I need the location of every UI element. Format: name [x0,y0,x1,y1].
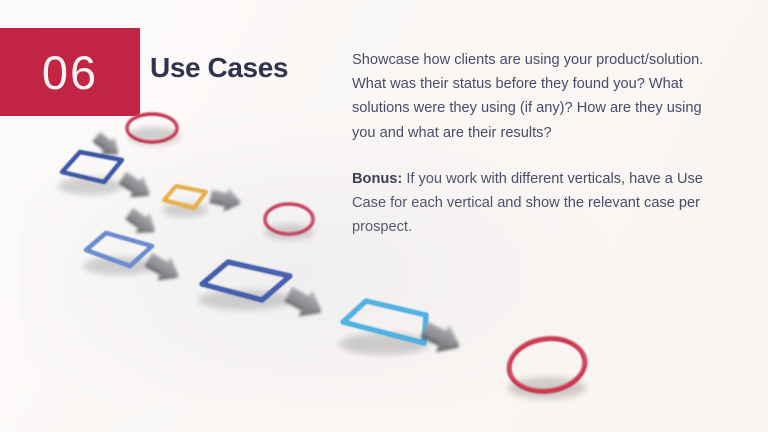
arrow-1 [90,128,125,162]
arrow-4 [122,204,161,241]
bonus-label: Bonus: [352,171,402,187]
body-copy: Showcase how clients are using your prod… [352,48,722,239]
bonus-text: If you work with different verticals, ha… [352,171,703,235]
node-mid-circle [265,202,313,234]
section-number-badge: 06 [0,28,140,116]
arrow-6 [281,281,327,324]
arrow-5 [142,248,185,288]
node-process-box-1 [62,152,122,182]
section-number: 06 [42,49,98,96]
node-end-circle [505,331,588,396]
node-process-box-2 [86,233,152,266]
page-title: Use Cases [150,52,288,84]
node-process-box-4 [343,301,426,343]
copy-paragraph-2: Bonus: If you work with different vertic… [352,167,722,240]
arrow-2 [116,167,156,205]
copy-paragraph-1: Showcase how clients are using your prod… [352,48,722,145]
node-decision-box [164,186,206,208]
arrow-7 [418,316,465,360]
arrow-3 [208,185,242,214]
slide-root: 06 Use Cases Showcase how clients are us… [0,0,768,432]
node-start-circle [127,112,177,142]
node-process-box-3 [202,262,290,300]
